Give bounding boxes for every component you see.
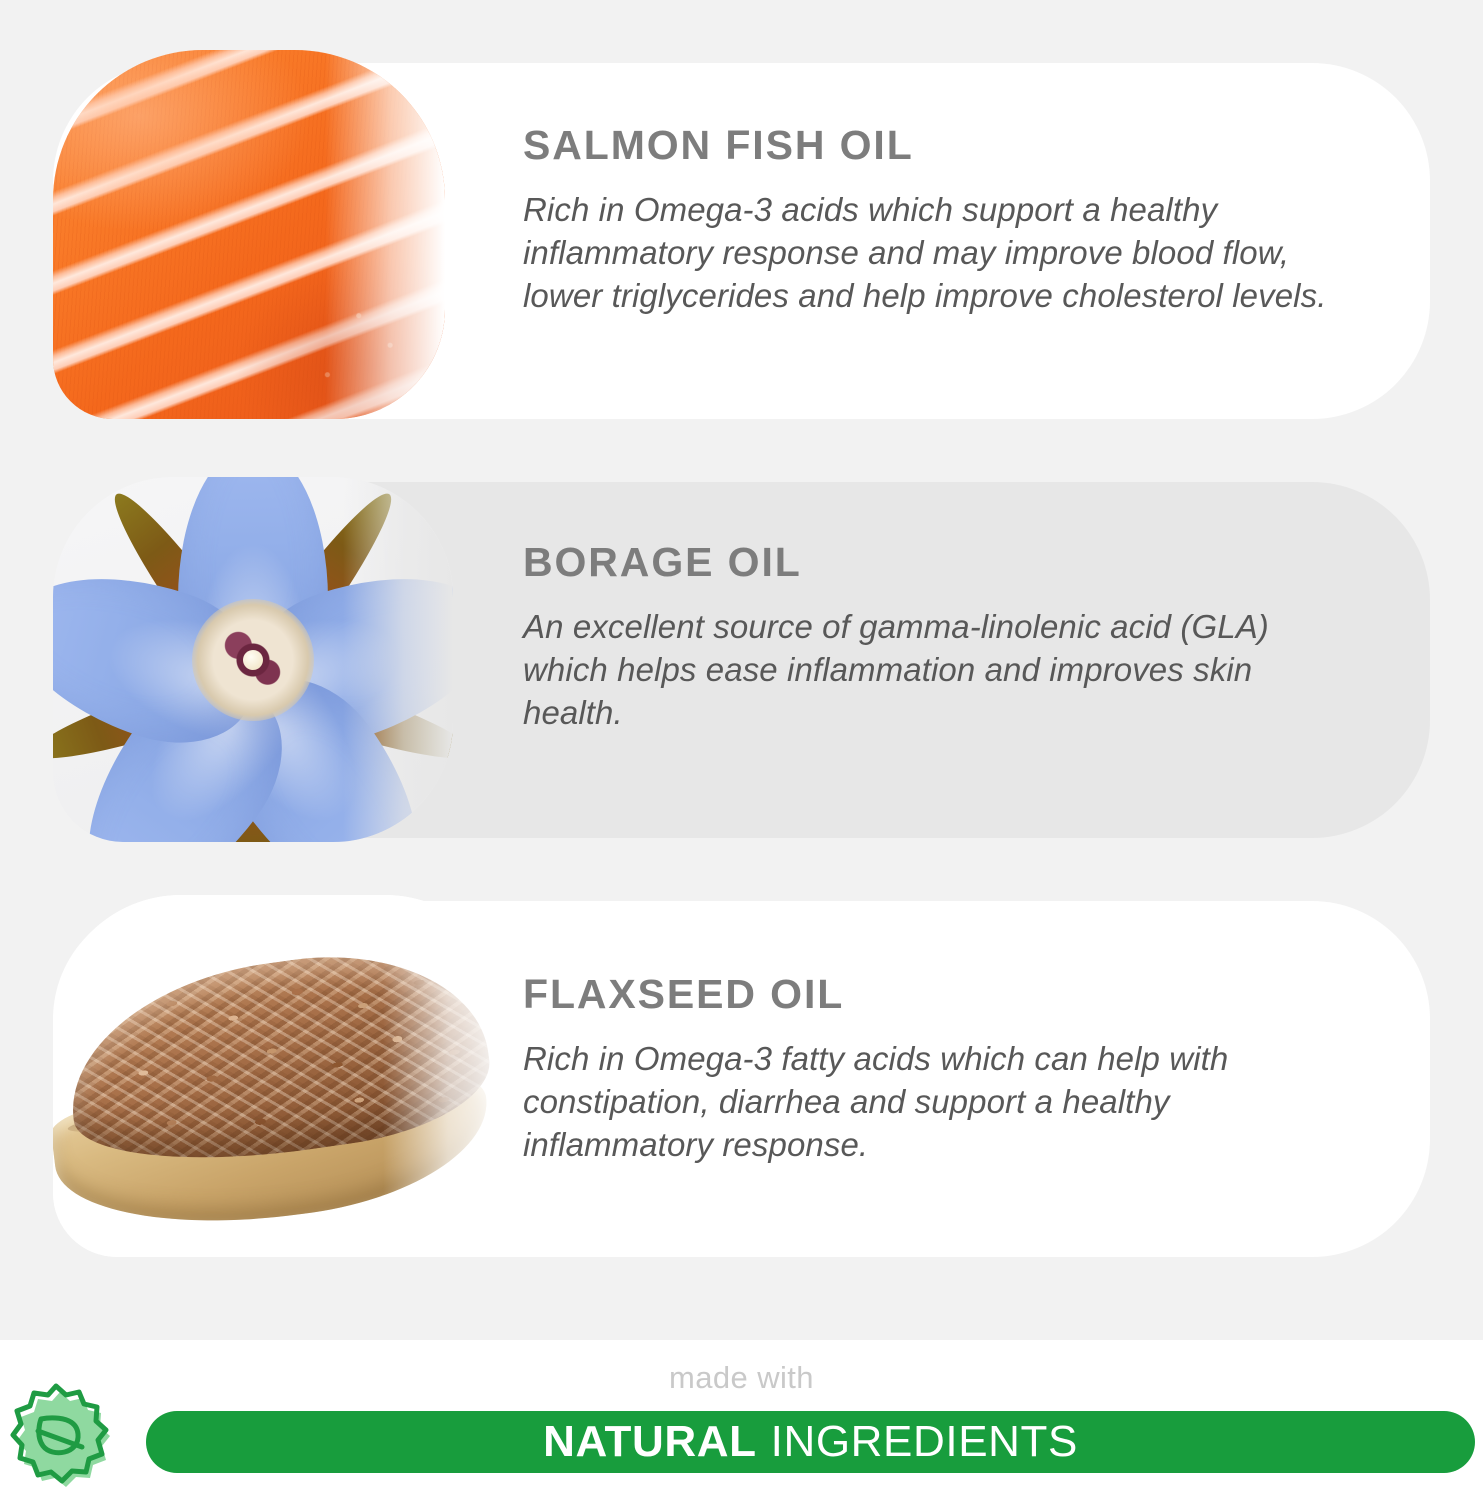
ingredient-title: BORAGE OIL	[523, 542, 1323, 583]
ingredient-card-salmon[interactable]: SALMON FISH OIL Rich in Omega-3 acids wh…	[53, 63, 1430, 419]
ingredient-infographic: SALMON FISH OIL Rich in Omega-3 acids wh…	[0, 0, 1483, 1500]
ingredient-description: Rich in Omega-3 acids which support a he…	[523, 189, 1373, 318]
ingredient-card-flaxseed[interactable]: FLAXSEED OIL Rich in Omega-3 fatty acids…	[53, 901, 1430, 1257]
ingredient-title: FLAXSEED OIL	[523, 974, 1343, 1015]
made-with-footer: made with NATURAL INGREDIENTS	[0, 1340, 1483, 1500]
salmon-fillet-photo	[53, 50, 445, 419]
banner-strong-text: NATURAL	[543, 1417, 757, 1467]
card-text-block: FLAXSEED OIL Rich in Omega-3 fatty acids…	[523, 974, 1343, 1167]
card-text-block: BORAGE OIL An excellent source of gamma-…	[523, 542, 1323, 735]
ingredient-card-list: SALMON FISH OIL Rich in Omega-3 acids wh…	[0, 0, 1483, 1340]
made-with-label: made with	[0, 1360, 1483, 1396]
ingredient-description: Rich in Omega-3 fatty acids which can he…	[523, 1038, 1343, 1167]
leaf-badge-icon	[4, 1376, 116, 1494]
banner-light-text: INGREDIENTS	[771, 1417, 1078, 1467]
ingredient-description: An excellent source of gamma-linolenic a…	[523, 606, 1323, 735]
ingredient-card-borage[interactable]: BORAGE OIL An excellent source of gamma-…	[53, 482, 1430, 838]
borage-flower-photo	[53, 477, 453, 842]
flaxseed-scoop-photo	[53, 895, 513, 1257]
ingredient-title: SALMON FISH OIL	[523, 125, 1373, 166]
natural-ingredients-banner: NATURAL INGREDIENTS	[146, 1411, 1475, 1473]
card-text-block: SALMON FISH OIL Rich in Omega-3 acids wh…	[523, 125, 1373, 318]
